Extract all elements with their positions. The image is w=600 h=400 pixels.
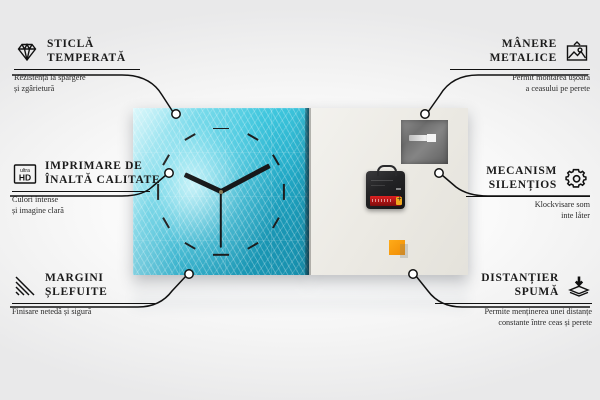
callout-subtitle-line1: Permit montarea ușoară (440, 73, 590, 84)
callout-subtitle-line2: și imagine clară (12, 206, 162, 217)
ultra-hd-icon: ultra HD (12, 162, 38, 186)
callout-header: MÂNERE METALICE (440, 38, 590, 65)
infographic-stage: STICLĂ TEMPERATĂ Rezistență la spargere … (0, 0, 600, 400)
callout-rule (450, 69, 590, 70)
callout-subtitle-line2: și zgârietură (14, 84, 154, 95)
back-panel-edge (309, 108, 311, 275)
aa-battery (370, 196, 401, 206)
callout-header: ultra HD IMPRIMARE DE ÎNALTĂ CALITATE (12, 160, 162, 187)
product-image (133, 108, 468, 275)
callout-margini-slefuite: MARGINI ȘLEFUITE Finisare netedă și sigu… (12, 272, 167, 318)
callout-title-line1: STICLĂ (47, 38, 126, 52)
callout-rule (435, 303, 592, 304)
callout-title: MECANISM SILENȚIOS (486, 165, 557, 192)
callout-sticla-temperata: STICLĂ TEMPERATĂ Rezistență la spargere … (14, 38, 154, 94)
gear-icon (564, 167, 590, 191)
callout-subtitle-line1: Finisare netedă și sigură (12, 307, 167, 318)
clock-back-panel (309, 108, 468, 275)
callout-title-line1: IMPRIMARE DE (45, 160, 160, 174)
callout-subtitle-line1: Rezistență la spargere (14, 73, 154, 84)
svg-text:HD: HD (19, 172, 31, 182)
callout-title-line1: MÂNERE (490, 38, 557, 52)
battery-positive-tip (396, 197, 402, 205)
diagonal-lines-icon (12, 274, 38, 298)
callout-subtitle-line2: constante între ceas și perete (427, 318, 592, 329)
callout-title-line2: SPUMĂ (481, 286, 559, 300)
callout-title-line1: MECANISM (486, 165, 557, 179)
callout-title-line1: DISTANȚIER (481, 272, 559, 286)
callout-subtitle-line1: Permite menținerea unei distanțe (427, 307, 592, 318)
callout-title-line2: ȘLEFUITE (45, 286, 107, 300)
callout-imprimare-inalta-calitate: ultra HD IMPRIMARE DE ÎNALTĂ CALITATE Cu… (12, 160, 162, 216)
callout-manere-metalice: MÂNERE METALICE Permit montarea ușoară a… (440, 38, 590, 94)
callout-rule (466, 196, 590, 197)
hanger-slot (409, 135, 435, 141)
callout-subtitle-line1: Culori intense (12, 195, 162, 206)
callout-subtitle-line1: Klockvisare som (458, 200, 590, 211)
mechanism-detail-line (371, 180, 393, 181)
callout-header: DISTANȚIER SPUMĂ (427, 272, 592, 299)
callout-rule (14, 69, 140, 70)
callout-rule (12, 191, 150, 192)
mechanism-label-dot (396, 188, 401, 190)
callout-subtitle-line2: inte låter (458, 211, 590, 222)
press-down-pad-icon (566, 274, 592, 298)
callout-distantier-spuma: DISTANȚIER SPUMĂ Permite menținerea unei… (427, 272, 592, 328)
callout-title-line2: TEMPERATĂ (47, 52, 126, 66)
callout-rule (12, 303, 155, 304)
callout-title: IMPRIMARE DE ÎNALTĂ CALITATE (45, 160, 160, 187)
mechanism-hook (377, 165, 397, 176)
diamond-icon (14, 40, 40, 64)
picture-hanger-icon (564, 40, 590, 64)
mechanism-detail-line-2 (371, 185, 385, 186)
callout-title: MARGINI ȘLEFUITE (45, 272, 107, 299)
callout-title-line2: ÎNALTĂ CALITATE (45, 174, 160, 188)
product-reflection (133, 275, 468, 309)
callout-title-line2: METALICE (490, 52, 557, 66)
callout-title: STICLĂ TEMPERATĂ (47, 38, 126, 65)
callout-title-line2: SILENȚIOS (486, 179, 557, 193)
callout-header: STICLĂ TEMPERATĂ (14, 38, 154, 65)
orange-foam-spacer (389, 240, 405, 255)
callout-title: MÂNERE METALICE (490, 38, 557, 65)
quartz-mechanism (366, 171, 405, 209)
callout-mecanism-silentios: MECANISM SILENȚIOS Klockvisare som inte … (458, 165, 590, 221)
metal-hanger-plate (401, 120, 448, 164)
callout-header: MECANISM SILENȚIOS (458, 165, 590, 192)
callout-title: DISTANȚIER SPUMĂ (481, 272, 559, 299)
callout-subtitle-line2: a ceasului pe perete (440, 84, 590, 95)
callout-header: MARGINI ȘLEFUITE (12, 272, 167, 299)
callout-title-line1: MARGINI (45, 272, 107, 286)
